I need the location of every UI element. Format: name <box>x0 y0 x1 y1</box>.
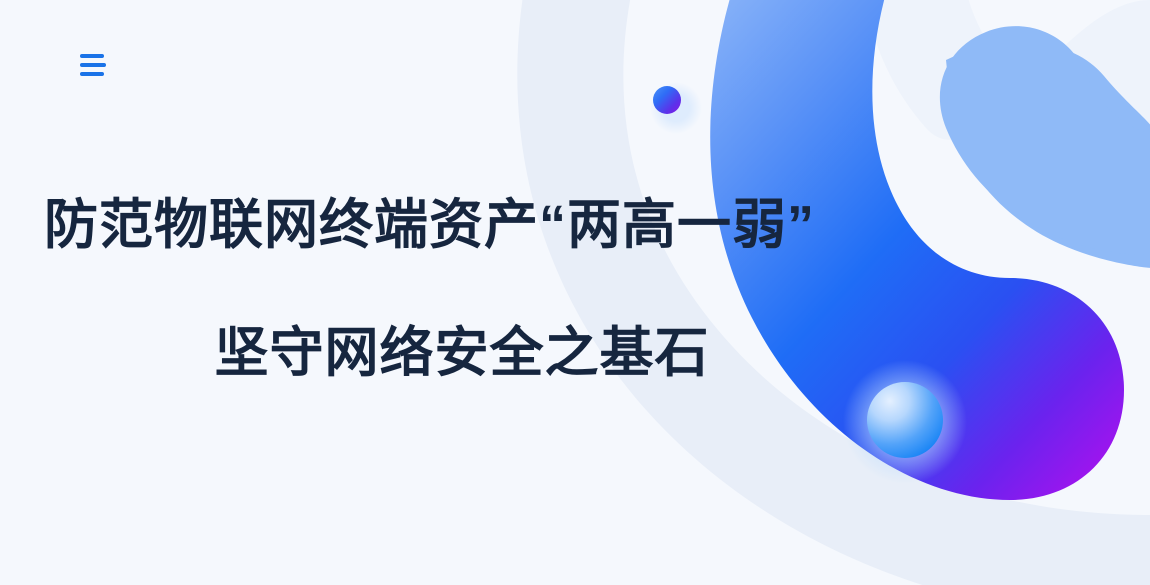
light-blue-arc-cap <box>945 63 1035 153</box>
small-gradient-sphere <box>653 86 681 114</box>
pale-ring-band-inner <box>862 0 1150 140</box>
page-title: 防范物联网终端资产“两高一弱” 坚守网络安全之基石 <box>0 188 880 390</box>
hamburger-bar-top <box>80 54 104 58</box>
title-line-2: 坚守网络安全之基石 <box>0 316 880 390</box>
hamburger-bar-middle <box>80 63 106 67</box>
title-line-1: 防范物联网终端资产“两高一弱” <box>0 188 880 262</box>
small-sphere-glow <box>650 82 702 134</box>
light-blue-arc-body <box>940 26 1150 255</box>
hamburger-menu-icon[interactable] <box>80 46 118 84</box>
hamburger-bar-bottom <box>80 72 104 76</box>
slide-canvas: 防范物联网终端资产“两高一弱” 坚守网络安全之基石 <box>0 0 1150 585</box>
light-blue-arc-sweep <box>946 36 1150 268</box>
light-blue-arc <box>960 46 1150 248</box>
large-blue-sphere <box>867 382 943 458</box>
